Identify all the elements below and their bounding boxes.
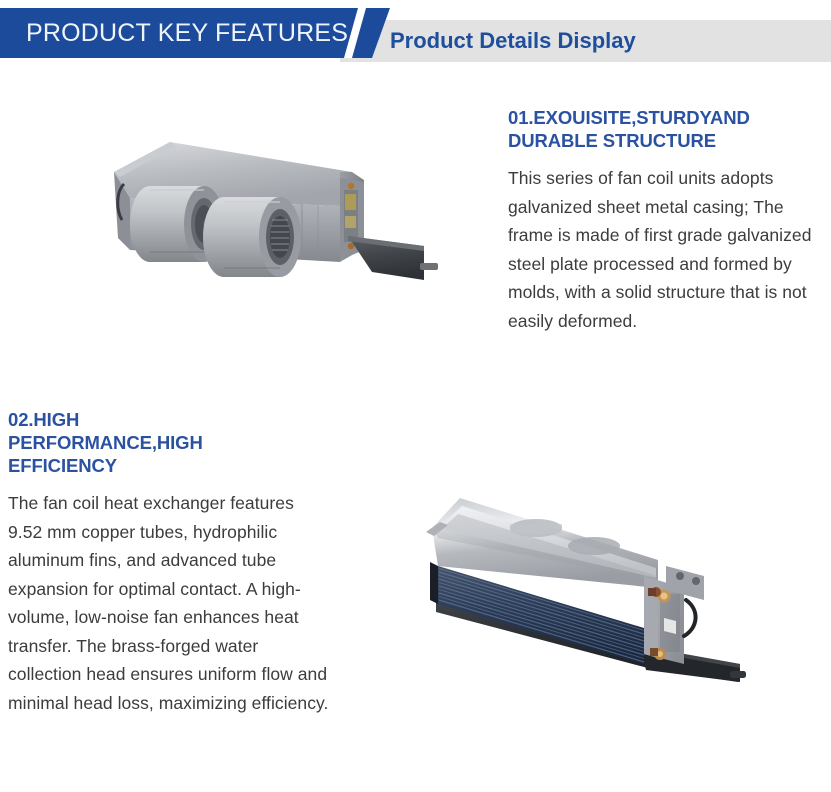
header-subtitle: Product Details Display bbox=[390, 27, 636, 55]
page-title: PRODUCT KEY FEATURES bbox=[26, 17, 348, 49]
product-image-fan-coil-dual-blower bbox=[72, 120, 462, 335]
feature-heading-2-line-3: EFFICIENCY bbox=[8, 455, 117, 476]
feature-section-1: 01.EXOUISITE,STURDYAND DURABLE STRUCTURE… bbox=[0, 70, 831, 380]
feature-heading-2-line-1: 02.HIGH bbox=[8, 409, 79, 430]
feature-heading-1: 01.EXOUISITE,STURDYAND DURABLE STRUCTURE bbox=[508, 106, 828, 152]
feature-body-1: This series of fan coil units adopts gal… bbox=[508, 164, 828, 335]
feature-heading-1-line-2: DURABLE STRUCTURE bbox=[508, 130, 716, 151]
feature-text-block-1: 01.EXOUISITE,STURDYAND DURABLE STRUCTURE… bbox=[508, 106, 828, 335]
feature-heading-2: 02.HIGH PERFORMANCE,HIGH EFFICIENCY bbox=[8, 408, 330, 477]
feature-text-block-2: 02.HIGH PERFORMANCE,HIGH EFFICIENCY The … bbox=[8, 408, 330, 717]
feature-heading-1-line-1: 01.EXOUISITE,STURDYAND bbox=[508, 107, 750, 128]
feature-body-2: The fan coil heat exchanger features 9.5… bbox=[8, 489, 330, 717]
page-header: PRODUCT KEY FEATURES Product Details Dis… bbox=[0, 0, 831, 70]
feature-section-2: 02.HIGH PERFORMANCE,HIGH EFFICIENCY The … bbox=[0, 390, 831, 790]
product-image-fan-coil-blue-coil bbox=[408, 468, 808, 688]
feature-heading-2-line-2: PERFORMANCE,HIGH bbox=[8, 432, 203, 453]
